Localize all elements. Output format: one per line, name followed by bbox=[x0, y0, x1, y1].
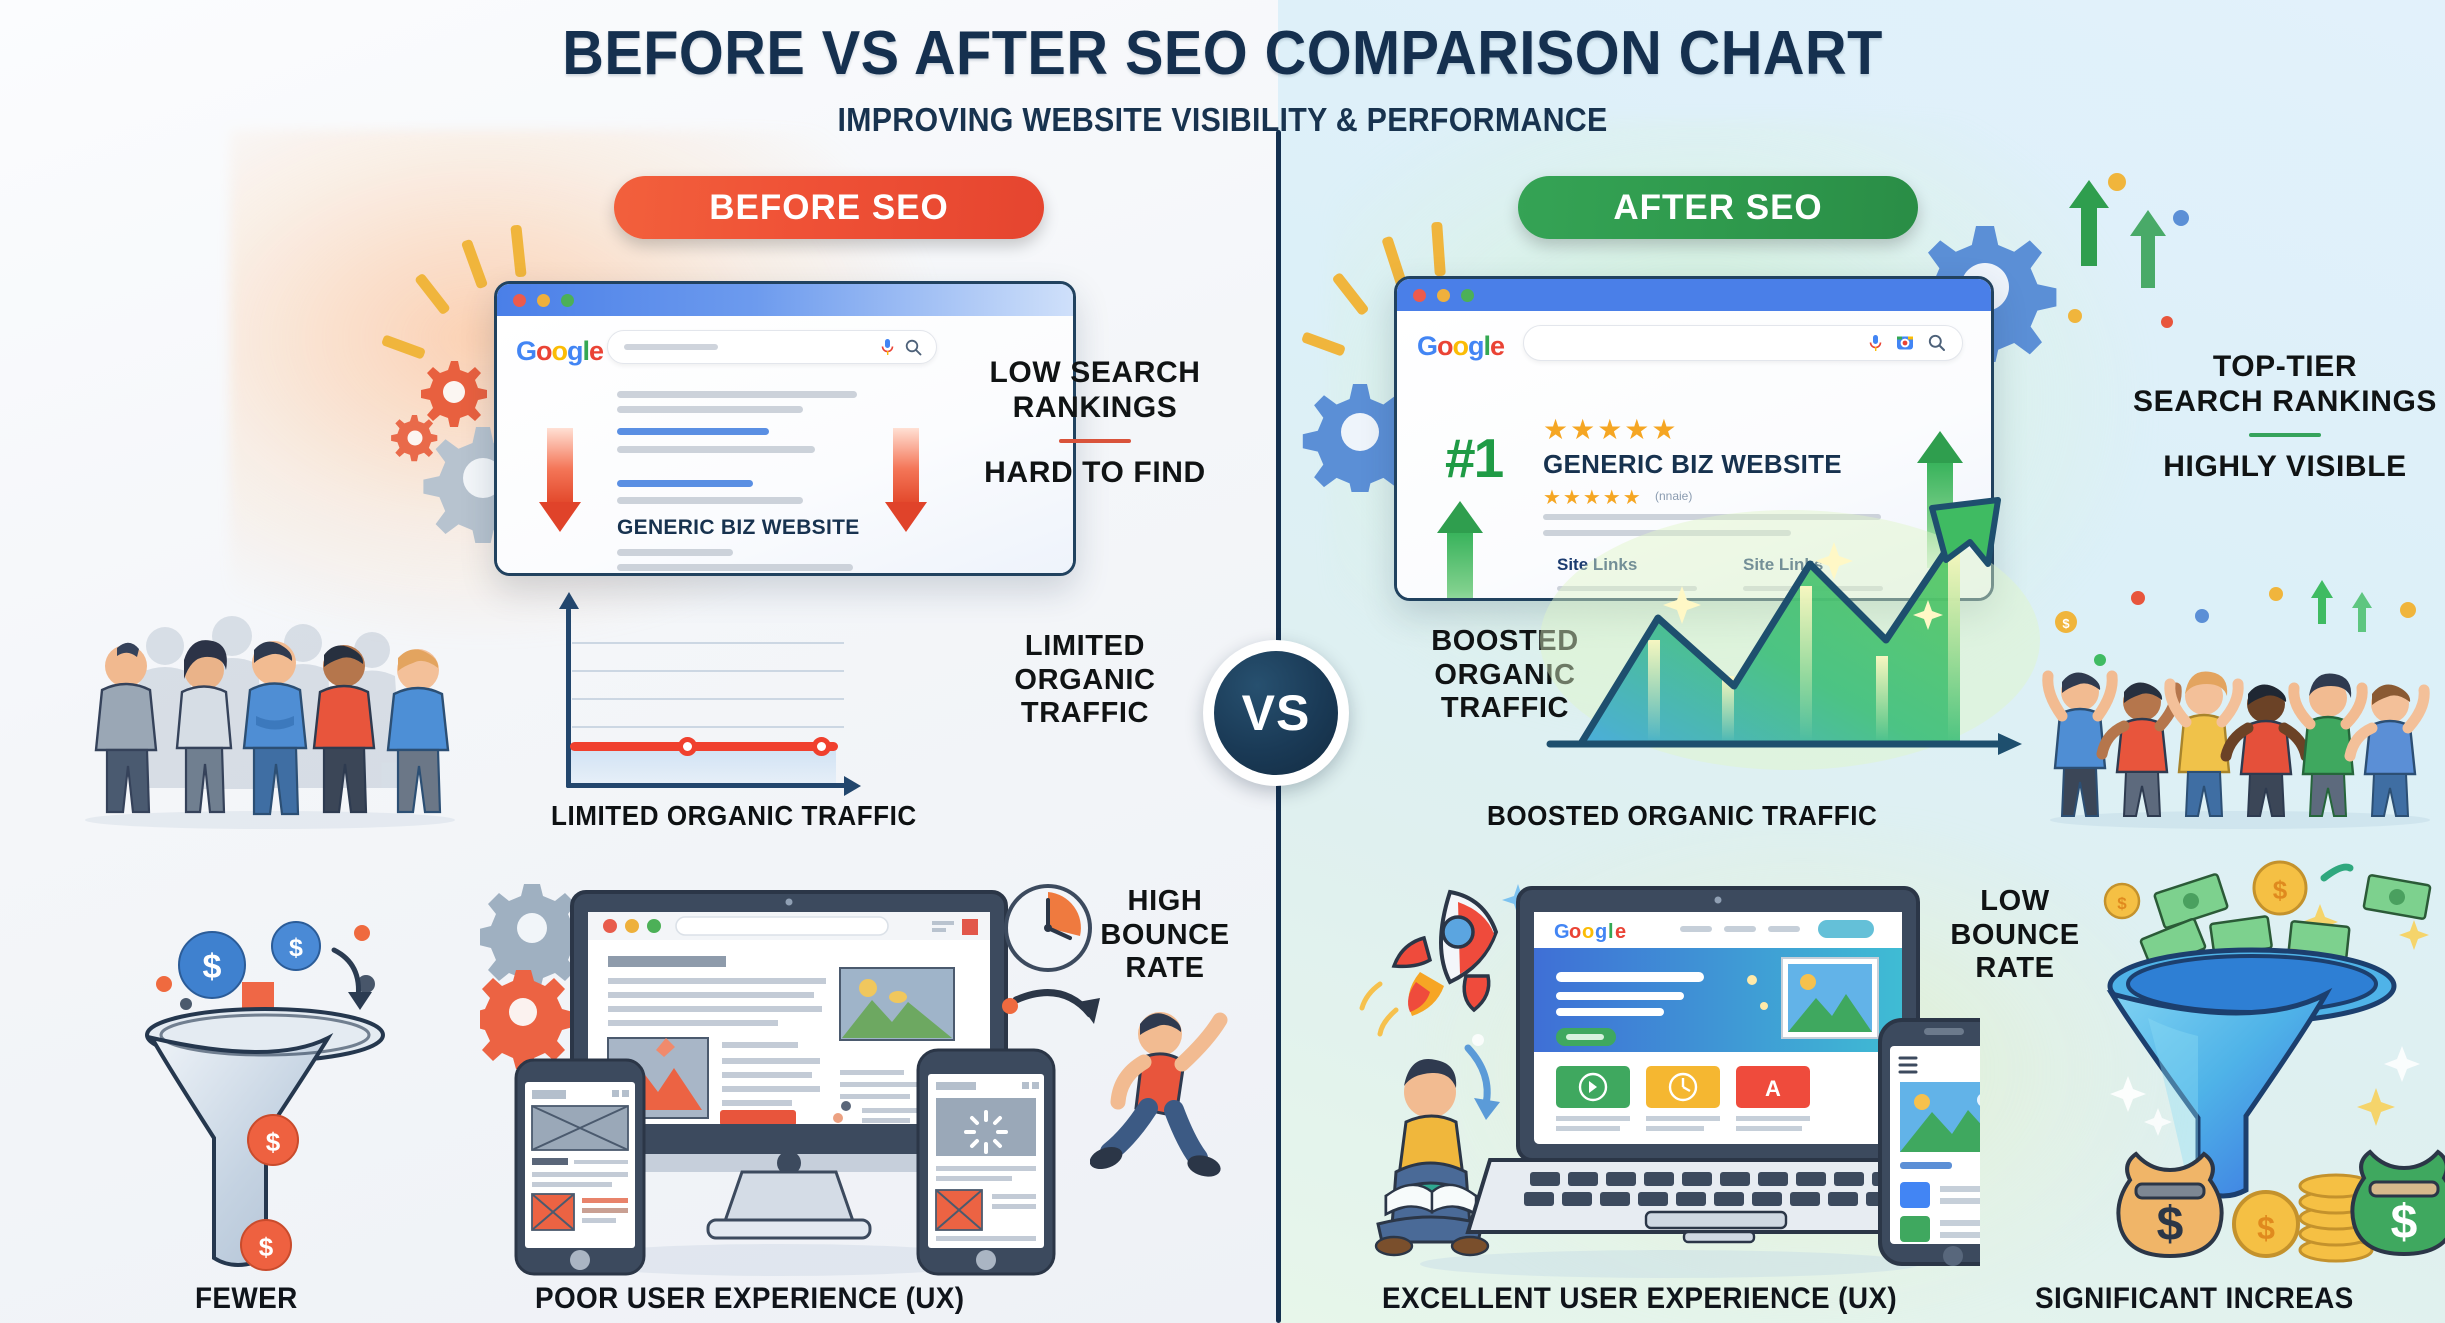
vs-badge: VS bbox=[1203, 640, 1349, 786]
svg-text:e: e bbox=[1615, 921, 1626, 943]
before-traffic-line1: LIMITED bbox=[955, 630, 1215, 664]
before-funnel-label: FEWER bbox=[195, 1282, 298, 1316]
microphone-icon[interactable] bbox=[881, 338, 894, 357]
after-stars-top: ★★★★★ bbox=[1543, 413, 1679, 446]
after-window-titlebar bbox=[1397, 279, 1991, 311]
maximize-icon[interactable] bbox=[561, 294, 574, 307]
search-icon[interactable] bbox=[905, 339, 922, 356]
before-ux-label: POOR USER EXPERIENCE (UX) bbox=[535, 1282, 964, 1316]
svg-text:l: l bbox=[1608, 921, 1614, 943]
before-chart-caption: LIMITED ORGANIC TRAFFIC bbox=[551, 800, 917, 832]
after-callout-line1: TOP-TIER bbox=[2120, 350, 2445, 385]
before-bounce-callout: HIGH BOUNCE RATE bbox=[1050, 885, 1280, 986]
svg-text:$: $ bbox=[2257, 1210, 2275, 1246]
before-callout-line1: LOW SEARCH bbox=[920, 356, 1270, 391]
before-callout-line2: RANKINGS bbox=[920, 391, 1270, 426]
after-result-title[interactable]: GENERIC BIZ WEBSITE bbox=[1543, 449, 1842, 480]
before-conversion-funnel-illustration: $ $ $ $ bbox=[60, 860, 510, 1280]
after-revenue-funnel-illustration: $ $ $ bbox=[2040, 858, 2445, 1283]
svg-text:A: A bbox=[1765, 1076, 1781, 1101]
after-ux-label: EXCELLENT USER EXPERIENCE (UX) bbox=[1382, 1282, 1897, 1316]
after-callout-line3: HIGHLY VISIBLE bbox=[2120, 450, 2445, 485]
close-icon[interactable] bbox=[513, 294, 526, 307]
svg-text:$: $ bbox=[2391, 1196, 2418, 1249]
before-result-title[interactable]: GENERIC BIZ WEBSITE bbox=[617, 516, 860, 540]
page-title: BEFORE VS AFTER SEO COMPARISON CHART bbox=[86, 18, 2360, 89]
before-callout-line3: HARD TO FIND bbox=[920, 456, 1270, 491]
up-arrow-icon-left bbox=[1437, 501, 1483, 601]
before-ranking-callout: LOW SEARCH RANKINGS HARD TO FIND bbox=[920, 356, 1270, 490]
svg-text:$: $ bbox=[259, 1232, 274, 1262]
after-ranking-callout: TOP-TIER SEARCH RANKINGS HIGHLY VISIBLE bbox=[2120, 350, 2445, 484]
after-devices-illustration: Go og le A bbox=[1340, 860, 1980, 1280]
search-icon[interactable] bbox=[1928, 334, 1946, 352]
google-lens-icon[interactable] bbox=[1896, 334, 1914, 352]
svg-text:o: o bbox=[1569, 921, 1581, 943]
svg-text:$: $ bbox=[266, 1127, 281, 1157]
before-bounce-line2: BOUNCE bbox=[1050, 919, 1280, 953]
after-growth-arrows-decoration bbox=[2055, 170, 2205, 350]
before-search-input[interactable] bbox=[607, 330, 937, 364]
before-bounce-line3: RATE bbox=[1050, 952, 1280, 986]
before-search-placeholder-bar bbox=[624, 344, 718, 350]
svg-text:$: $ bbox=[2062, 616, 2070, 631]
before-callout-rule bbox=[1059, 439, 1131, 443]
svg-text:$: $ bbox=[203, 948, 222, 986]
google-logo-before: Google bbox=[516, 336, 603, 367]
after-callout-line2: SEARCH RANKINGS bbox=[2120, 385, 2445, 420]
before-traffic-callout: LIMITED ORGANIC TRAFFIC bbox=[955, 630, 1215, 731]
after-search-input[interactable] bbox=[1523, 325, 1963, 361]
before-traffic-line3: TRAFFIC bbox=[955, 697, 1215, 731]
after-seo-badge-label: AFTER SEO bbox=[1613, 188, 1822, 228]
before-traffic-chart bbox=[550, 600, 1020, 800]
close-icon[interactable] bbox=[1413, 289, 1426, 302]
svg-text:g: g bbox=[1595, 921, 1607, 943]
svg-text:$: $ bbox=[2157, 1198, 2184, 1251]
before-seo-badge[interactable]: BEFORE SEO bbox=[614, 176, 1044, 239]
svg-text:o: o bbox=[1582, 921, 1594, 943]
page-subtitle: IMPROVING WEBSITE VISIBILITY & PERFORMAN… bbox=[98, 101, 2347, 139]
before-window-titlebar bbox=[497, 284, 1073, 316]
after-audience-illustration: $ bbox=[2040, 580, 2445, 830]
after-traffic-chart bbox=[1490, 490, 2050, 810]
before-seo-badge-label: BEFORE SEO bbox=[709, 188, 948, 228]
after-chart-caption: BOOSTED ORGANIC TRAFFIC bbox=[1487, 800, 1877, 832]
microphone-icon[interactable] bbox=[1869, 334, 1882, 353]
before-audience-illustration bbox=[60, 598, 480, 830]
minimize-icon[interactable] bbox=[1437, 289, 1450, 302]
maximize-icon[interactable] bbox=[1461, 289, 1474, 302]
google-logo-after: Google bbox=[1417, 331, 1504, 362]
infographic-canvas: BEFORE VS AFTER SEO COMPARISON CHART IMP… bbox=[0, 0, 2445, 1323]
header: BEFORE VS AFTER SEO COMPARISON CHART IMP… bbox=[0, 18, 2445, 139]
after-seo-badge[interactable]: AFTER SEO bbox=[1518, 176, 1918, 239]
after-rank-badge: #1 bbox=[1445, 426, 1502, 490]
before-running-person-icon bbox=[1090, 1000, 1280, 1200]
svg-text:$: $ bbox=[2273, 875, 2288, 905]
svg-text:$: $ bbox=[289, 934, 303, 962]
before-bounce-line1: HIGH bbox=[1050, 885, 1280, 919]
after-money-label: SIGNIFICANT INCREAS bbox=[2035, 1282, 2354, 1316]
before-traffic-line2: ORGANIC bbox=[955, 664, 1215, 698]
svg-text:G: G bbox=[1554, 921, 1570, 943]
after-callout-rule bbox=[2249, 433, 2321, 437]
minimize-icon[interactable] bbox=[537, 294, 550, 307]
down-arrow-icon-left bbox=[539, 428, 581, 532]
svg-text:$: $ bbox=[2117, 894, 2127, 913]
vs-badge-label: VS bbox=[1214, 651, 1338, 775]
